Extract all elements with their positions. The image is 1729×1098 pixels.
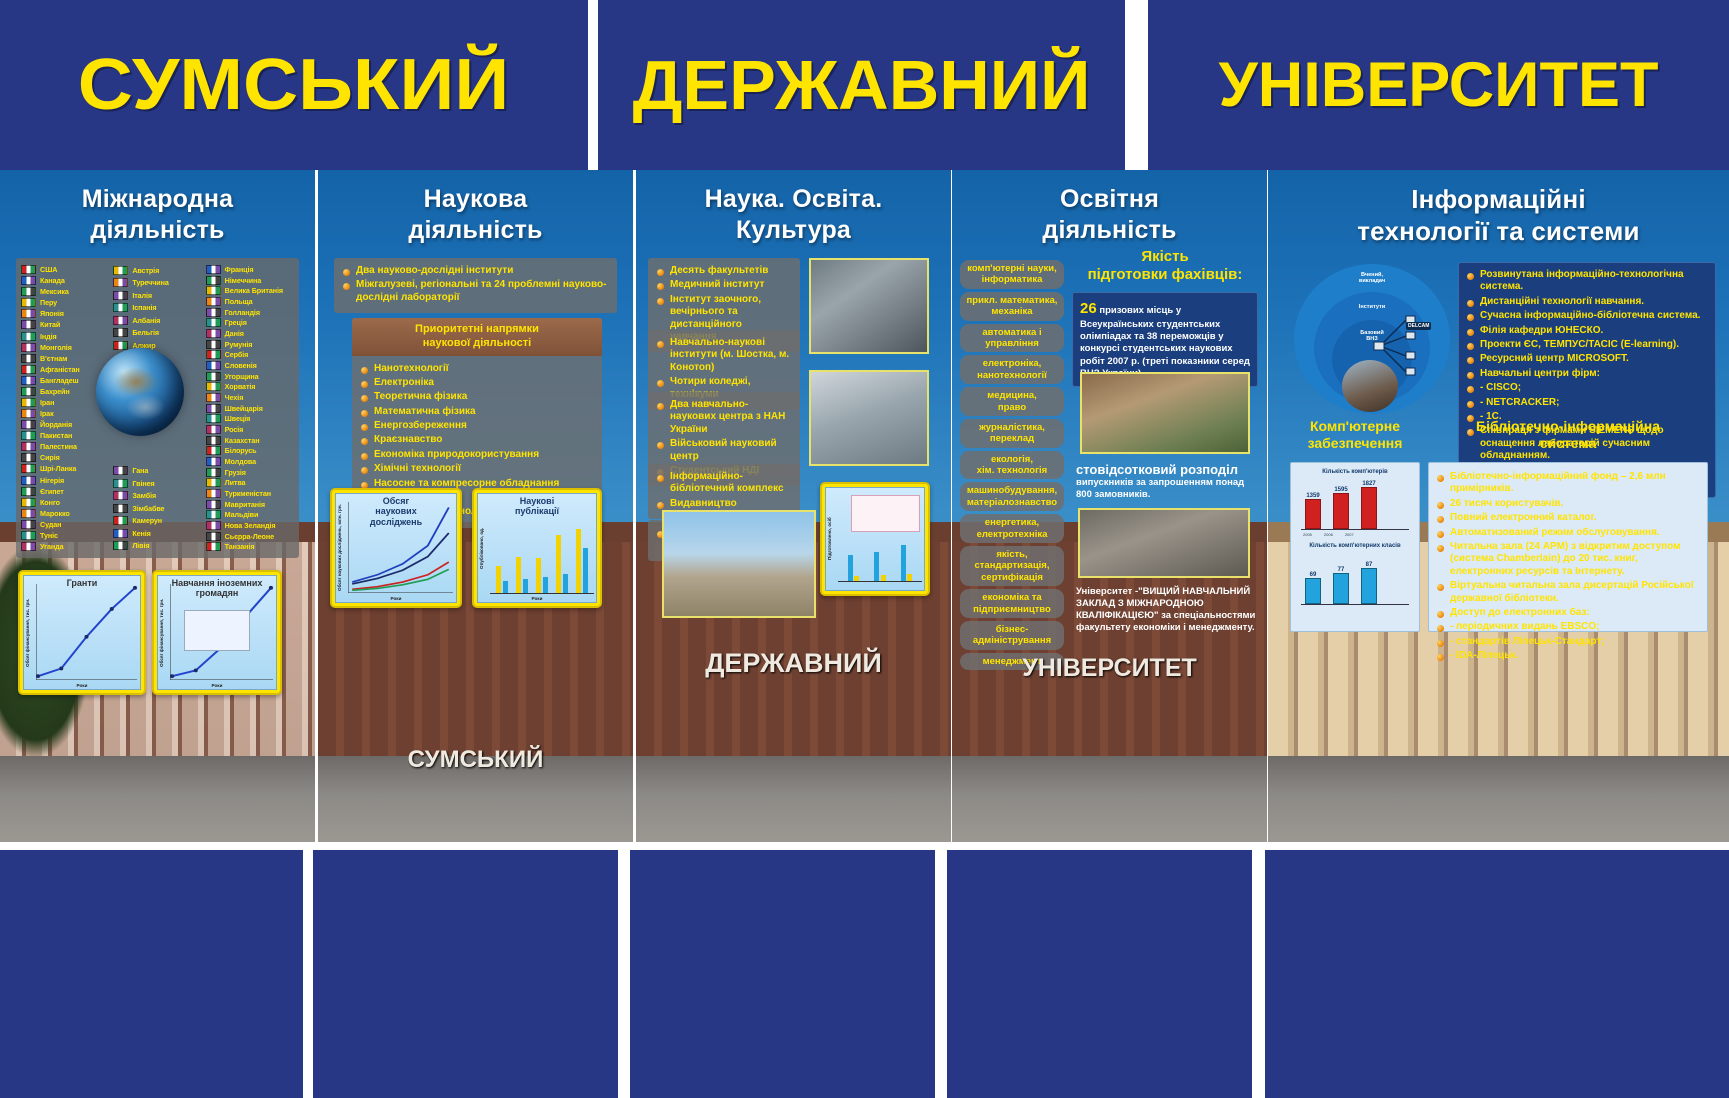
flag-row: Зімбабве	[113, 502, 201, 514]
flag-icon	[113, 278, 128, 287]
flag-row: Іспанія	[113, 301, 201, 313]
flag-icon	[206, 350, 221, 359]
flag-country-name: Сирія	[40, 453, 60, 462]
flag-row: Молдова	[206, 456, 294, 467]
flag-country-name: Японія	[40, 309, 64, 318]
flag-country-name: Туркменістан	[225, 489, 271, 498]
flag-country-name: Німеччина	[225, 276, 262, 285]
flag-row: Палестина	[21, 441, 109, 452]
specialties-list: комп'ютерні науки, інформатикаприкл. мат…	[960, 260, 1064, 673]
header-panel-2: ДЕРЖАВНИЙ	[598, 0, 1125, 170]
flag-icon	[21, 298, 36, 307]
priority-item: Краєзнавство	[361, 434, 593, 446]
flag-icon	[206, 542, 221, 551]
building-sign-panel3: ДЕРЖАВНИЙ	[636, 648, 951, 679]
flag-icon	[21, 354, 36, 363]
flag-row: Гана	[113, 465, 201, 477]
flag-country-name: Сьєрра-Леоне	[225, 532, 274, 541]
flag-icon	[21, 442, 36, 451]
flag-country-name: Угорщина	[225, 372, 259, 381]
flag-row: Бельгія	[113, 326, 201, 338]
flag-row: Чехія	[206, 392, 294, 403]
sec-bullet: Два навчально-наукових центра з НАН Укра…	[657, 399, 791, 436]
flag-row: Литва	[206, 477, 294, 488]
panel-title-it: Інформаційні технології та системи	[1268, 184, 1729, 247]
flag-row: Туреччина	[113, 276, 201, 288]
flag-row: Росія	[206, 424, 294, 435]
flag-row: Китай	[21, 319, 109, 330]
flag-row: Сьєрра-Леоне	[206, 531, 294, 542]
chart-classes-plot: 69 77 87	[1295, 554, 1415, 612]
flag-icon	[206, 318, 221, 327]
flag-country-name: Судан	[40, 520, 61, 529]
flag-row: Монголія	[21, 342, 109, 353]
panel-science-education-culture: Наука. Освіта. Культура Десять факультет…	[636, 170, 951, 842]
flag-icon	[206, 532, 221, 541]
flag-icon	[206, 436, 221, 445]
library-bullet: Автоматизований режим обслуговування.	[1437, 527, 1699, 539]
flag-country-name: Замбія	[132, 491, 156, 500]
library-bullet: Повний електронний каталог.	[1437, 512, 1699, 524]
flag-country-name: Румунія	[225, 340, 253, 349]
flag-icon	[21, 487, 36, 496]
bar-label-computers-1: 1595	[1333, 487, 1349, 493]
flag-icon	[206, 265, 221, 274]
chart-grants: Гранти Обсяг фінансування, тис. грн. Рок…	[18, 570, 146, 695]
panel-title-international: Міжнародна діяльність	[0, 184, 315, 245]
poster-stage: СУМСЬКИЙ ДЕРЖАВНИЙ УНІВЕРСИТЕТ Міжнародн…	[0, 0, 1729, 1098]
flag-row: Японія	[21, 308, 109, 319]
specialty-pill: якість, стандартизація, сертифікація	[960, 546, 1064, 586]
header-panel-1: СУМСЬКИЙ	[0, 0, 588, 170]
flag-icon	[21, 431, 36, 440]
specialty-pill: журналістика, переклад	[960, 419, 1064, 448]
photo-classroom	[1078, 508, 1250, 578]
flag-row: Грузія	[206, 467, 294, 478]
flag-row: Німеччина	[206, 275, 294, 286]
priority-item: Математична фізика	[361, 406, 593, 418]
flag-country-name: Індія	[40, 332, 57, 341]
chart-staff-training: Підготовлено, осіб	[820, 482, 930, 596]
photo-scientists	[809, 370, 929, 466]
specialty-pill: медицина, право	[960, 387, 1064, 416]
flag-row: Казахстан	[206, 435, 294, 446]
flag-icon	[206, 500, 221, 509]
flag-row: Туніс	[21, 530, 109, 541]
flag-row: Румунія	[206, 339, 294, 350]
flag-icon	[206, 382, 221, 391]
flag-row: Швейцарія	[206, 403, 294, 414]
flag-row: Велика Британія	[206, 285, 294, 296]
flag-country-name: Нова Зеландія	[225, 521, 276, 530]
header-word-2: ДЕРЖАВНИЙ	[633, 45, 1091, 125]
flag-country-name: Іспанія	[132, 303, 156, 312]
flag-icon	[206, 478, 221, 487]
flag-row: Гвінея	[113, 477, 201, 489]
bottom-block-1	[0, 850, 303, 1098]
flag-icon	[113, 504, 128, 513]
flag-icon	[21, 476, 36, 485]
panel-scientific: Наукова діяльність Два науково-дослідні …	[318, 170, 633, 842]
flag-icon	[21, 531, 36, 540]
flag-country-name: Казахстан	[225, 436, 260, 445]
bar-label-computers-0: 1359	[1305, 493, 1321, 499]
flag-icon	[113, 529, 128, 538]
flag-country-name: Ірак	[40, 409, 54, 418]
building-thumb	[1342, 360, 1398, 412]
priority-item: Нанотехнології	[361, 363, 593, 375]
flag-row: Афганістан	[21, 364, 109, 375]
chart-publications-ylabel: Опубліковано, од.	[476, 494, 487, 602]
flag-row: В'єтнам	[21, 353, 109, 364]
flag-row: Конго	[21, 497, 109, 508]
chart-publications: Наукові публікації Опубліковано, од. Рок…	[472, 488, 602, 608]
flag-country-name: Мавританія	[225, 500, 265, 509]
library-bullet: Віртуальна читальна зала дисертацій Росі…	[1437, 580, 1699, 605]
it-bullet: Дистанційні технології навчання.	[1467, 296, 1707, 308]
flag-country-name: Голландія	[225, 308, 260, 317]
flag-row: Мальдіви	[206, 509, 294, 520]
flag-row: Перу	[21, 297, 109, 308]
distribution-lead: стовідсотковий розподіл	[1076, 462, 1262, 477]
distribution-block: стовідсотковий розподіл випускників за з…	[1076, 462, 1262, 502]
flag-country-name: Єгипет	[40, 487, 64, 496]
sec-bullet: Медичний інститут	[657, 279, 791, 291]
tick-computers-0: 2005	[1303, 532, 1312, 537]
panel-title-educational: Освітня діяльність	[952, 184, 1267, 245]
chart-staff-bars	[840, 540, 920, 581]
chart-publications-xlabel: Роки	[478, 596, 596, 601]
ring-label-middle: Інститути	[1314, 304, 1430, 310]
flag-icon	[206, 276, 221, 285]
flag-icon	[113, 479, 128, 488]
sec-bullet: Інформаційно-бібліотечний комплекс	[657, 471, 791, 496]
chart-foreign-xlabel: Роки	[158, 683, 276, 688]
flag-row: Швеція	[206, 413, 294, 424]
delcam-label: DELCAM	[1406, 322, 1431, 330]
flag-icon	[206, 404, 221, 413]
building-sign-panel2: СУМСЬКИЙ	[318, 746, 633, 774]
flag-row: Камерун	[113, 515, 201, 527]
building-sign-panel4: УНІВЕРСИТЕТ	[952, 654, 1267, 683]
library-bullet: Доступ до електронних баз:	[1437, 607, 1699, 619]
chart-research-xlabel: Роки	[336, 596, 456, 601]
priority-item: Хімічні технології	[361, 463, 593, 475]
flag-row: Білорусь	[206, 445, 294, 456]
flag-country-name: Сербія	[225, 350, 249, 359]
flag-country-name: Китай	[40, 320, 60, 329]
chart-computers-card: Кількість комп'ютерів 1359 1595 1827	[1290, 462, 1420, 632]
flag-row: Уганда	[21, 541, 109, 552]
tick-computers-1: 2006	[1324, 532, 1333, 537]
panel-international: Міжнародна діяльність СШАКанадаМексикаПе…	[0, 170, 315, 842]
flag-icon	[21, 542, 36, 551]
flag-country-name: Йорданія	[40, 420, 72, 429]
flag-icon	[21, 343, 36, 352]
flag-country-name: Велика Британія	[225, 286, 283, 295]
flag-icon	[206, 414, 221, 423]
bottom-block-5	[1265, 850, 1729, 1098]
flag-row: Танзанія	[206, 541, 294, 552]
flag-row: Туркменістан	[206, 488, 294, 499]
flag-row: Австрія	[113, 264, 201, 276]
flag-icon	[21, 276, 36, 285]
flag-row: Греція	[206, 317, 294, 328]
priority-item: Теоретична фізика	[361, 391, 593, 403]
flag-row: Сирія	[21, 452, 109, 463]
flag-icon	[113, 316, 128, 325]
chart-grants-svg	[36, 584, 137, 680]
flag-icon	[206, 510, 221, 519]
flag-icon	[206, 446, 221, 455]
flag-row: Албанія	[113, 314, 201, 326]
flag-row: Італія	[113, 289, 201, 301]
flag-row: США	[21, 264, 109, 275]
quality-stat-number: 26	[1080, 300, 1097, 317]
flag-icon	[206, 468, 221, 477]
flag-row: Канада	[21, 275, 109, 286]
priority-item: Економіка природокористування	[361, 449, 593, 461]
flag-row: Голландія	[206, 307, 294, 318]
flag-icon	[21, 464, 36, 473]
flag-country-name: Нігерія	[40, 476, 64, 485]
flag-country-name: Грузія	[225, 468, 246, 477]
library-section-title: Бібліотечно-інформаційна система	[1428, 418, 1708, 452]
flag-icon	[206, 425, 221, 434]
photo-library	[1080, 372, 1250, 454]
chart-grants-ylabel: Обсяг фінансування, тис. грн.	[22, 576, 33, 689]
it-bullet: Навчальні центри фірм:	[1467, 368, 1707, 380]
flag-row: Замбія	[113, 490, 201, 502]
quality-stat-text: призових місць у Всеукраїнських студентс…	[1080, 305, 1250, 379]
it-bullet: Сучасна інформаційно-бібліотечна система…	[1467, 310, 1707, 322]
flag-icon	[21, 365, 36, 374]
flag-country-name: Австрія	[132, 266, 159, 275]
flag-icon	[21, 265, 36, 274]
bottom-block-2	[313, 850, 618, 1098]
flag-row: Шрі-Ланка	[21, 463, 109, 474]
flag-icon	[113, 516, 128, 525]
flag-country-name: Афганістан	[40, 365, 80, 374]
flag-row: Нова Зеландія	[206, 520, 294, 531]
library-bullet: - стандартів Ліпецьк-Стандарт;	[1437, 636, 1699, 648]
flag-row: Кенія	[113, 527, 201, 539]
bottom-band	[0, 850, 1729, 1098]
panel-title-sec: Наука. Освіта. Культура	[636, 184, 951, 245]
flag-country-name: Кенія	[132, 529, 150, 538]
flag-row: Мексика	[21, 286, 109, 297]
flag-row: Мавританія	[206, 499, 294, 510]
flag-row: Йорданія	[21, 419, 109, 430]
flag-icon	[113, 341, 128, 350]
flag-icon	[21, 498, 36, 507]
flag-icon	[206, 372, 221, 381]
flag-country-name: Словенія	[225, 361, 257, 370]
network-diagram: Вчений, викладач Інститути Базовий ВНЗ D…	[1294, 264, 1450, 414]
flag-country-name: Бахрейн	[40, 387, 70, 396]
computer-section-title: Комп'ютерне забезпечення	[1290, 418, 1420, 452]
flag-icon	[206, 489, 221, 498]
sec-bullet: Десять факультетів	[657, 265, 791, 277]
specialty-pill: автоматика і управління	[960, 324, 1064, 353]
flag-row: Польща	[206, 296, 294, 307]
flag-icon	[21, 387, 36, 396]
flag-icon	[113, 266, 128, 275]
scientific-bullet: Два науково-дослідні інститути	[343, 265, 608, 277]
flag-icon	[21, 520, 36, 529]
flag-country-name: США	[40, 265, 57, 274]
it-bullet: Проекти ЄС, ТЕМПУС/ТАСІС (E-learning).	[1467, 339, 1707, 351]
flag-icon	[21, 453, 36, 462]
flag-country-name: Шрі-Ланка	[40, 464, 76, 473]
flag-country-name: Італія	[132, 291, 152, 300]
flag-country-name: Перу	[40, 298, 57, 307]
flag-row: Пакистан	[21, 430, 109, 441]
header-band: СУМСЬКИЙ ДЕРЖАВНИЙ УНІВЕРСИТЕТ	[0, 0, 1729, 170]
scientific-top-bullets: Два науково-дослідні інститутиМіжгалузев…	[334, 258, 617, 313]
flag-icon	[113, 328, 128, 337]
flag-icon	[21, 320, 36, 329]
chart-research-svg	[348, 502, 453, 593]
flag-country-name: Марокко	[40, 509, 70, 518]
library-bullets-card: Бібліотечно-інформаційний фонд – 2,6 млн…	[1428, 462, 1708, 632]
flag-icon	[206, 521, 221, 530]
flag-icon	[113, 466, 128, 475]
specialty-pill: енергетика, електротехніка	[960, 514, 1064, 543]
chart-research-ylabel: Обсяг наукових досліджень, млн. грн.	[334, 494, 345, 602]
flag-country-name: Молдова	[225, 457, 256, 466]
library-bullet: Читальна зала (24 АРМ) з відкритим досту…	[1437, 541, 1699, 578]
flag-country-name: Швейцарія	[225, 404, 263, 413]
flag-country-name: В'єтнам	[40, 354, 67, 363]
flag-icon	[21, 287, 36, 296]
flag-country-name: Данія	[225, 329, 244, 338]
flag-country-name: Туреччина	[132, 278, 168, 287]
specialty-pill: прикл. математика, механіка	[960, 292, 1064, 321]
flag-icon	[21, 509, 36, 518]
chart-grants-xlabel: Роки	[24, 683, 140, 688]
flag-icon	[206, 361, 221, 370]
panel-it-systems: Інформаційні технології та системи Вчени…	[1268, 170, 1729, 842]
flag-icon	[21, 309, 36, 318]
it-bullet: - CISCO;	[1467, 382, 1707, 394]
photo-laboratory	[809, 258, 929, 354]
it-bullet: Ресурсний центр MICROSOFT.	[1467, 353, 1707, 365]
flag-country-name: Білорусь	[225, 446, 257, 455]
educational-footer-text: Університет -"ВИЩИЙ НАВЧАЛЬНИЙ ЗАКЛАД З …	[1076, 586, 1262, 635]
chart-research-volume: Обсяг наукових досліджень Обсяг наукових…	[330, 488, 462, 608]
globe-icon	[96, 348, 184, 436]
bar-label-computers-2: 1827	[1361, 481, 1377, 487]
chart-foreign-students: Навчання іноземних громадян Обсяг фінанс…	[152, 570, 282, 695]
flag-country-name: Польща	[225, 297, 253, 306]
flag-row: Данія	[206, 328, 294, 339]
flag-icon	[21, 376, 36, 385]
flag-country-name: Іран	[40, 398, 54, 407]
specialty-pill: електроніка, нанотехнології	[960, 355, 1064, 384]
flag-country-name: Танзанія	[225, 542, 255, 551]
flag-country-name: Хорватія	[225, 382, 256, 391]
panel-educational: Освітня діяльність комп'ютерні науки, ін…	[952, 170, 1267, 842]
bottom-block-4	[947, 850, 1252, 1098]
flag-icon	[113, 291, 128, 300]
flag-icon	[113, 541, 128, 550]
tick-computers-2: 2007	[1345, 532, 1354, 537]
flag-icon	[21, 409, 36, 418]
flag-row: Франція	[206, 264, 294, 275]
flag-icon	[206, 286, 221, 295]
flag-icon	[206, 393, 221, 402]
bottom-block-3	[630, 850, 935, 1098]
quality-heading: Якість підготовки фахівців:	[1070, 248, 1260, 285]
flag-icon	[206, 297, 221, 306]
flag-row: Нігерія	[21, 474, 109, 485]
flag-row: Індія	[21, 330, 109, 341]
flag-icon	[21, 332, 36, 341]
flag-row: Лівія	[113, 540, 201, 552]
flag-icon	[21, 398, 36, 407]
flag-country-name: Туніс	[40, 531, 58, 540]
flag-country-name: Конго	[40, 498, 60, 507]
flag-column-3: ФранціяНімеччинаВелика БританіяПольщаГол…	[206, 264, 294, 552]
ring-label-outer: Вчений, викладач	[1294, 272, 1450, 284]
flag-country-name: Камерун	[132, 516, 162, 525]
flag-icon	[21, 420, 36, 429]
library-bullet: Бібліотечно-інформаційний фонд – 2,6 млн…	[1437, 471, 1699, 496]
header-word-3: УНІВЕРСИТЕТ	[1219, 49, 1659, 121]
flag-country-name: Пакистан	[40, 431, 72, 440]
sec-bullet: Навчально-наукові інститути (м. Шостка, …	[657, 337, 791, 374]
library-bullet: - IDA-Ліпецьк.	[1437, 650, 1699, 662]
flag-country-name: Росія	[225, 425, 244, 434]
flag-icon	[206, 329, 221, 338]
chart-staff-ylabel: Підготовлено, осіб	[824, 488, 835, 590]
flag-icon	[206, 340, 221, 349]
specialty-pill: машинобудування, матеріалознавство	[960, 482, 1064, 511]
flag-row: Хорватія	[206, 381, 294, 392]
flag-country-name: Уганда	[40, 542, 64, 551]
specialty-pill: екологія, хім. технологія	[960, 451, 1064, 480]
flag-country-name: Албанія	[132, 316, 160, 325]
flag-country-name: Мексика	[40, 287, 69, 296]
flag-row: Марокко	[21, 508, 109, 519]
chart-classes-title: Кількість комп'ютерних класів	[1295, 543, 1415, 550]
sec-bullet: Військовий науковий центр	[657, 438, 791, 463]
library-bullet: 26 тисяч користувачів.	[1437, 498, 1699, 510]
flag-column-1: СШАКанадаМексикаПеруЯпоніяКитайІндіяМонг…	[21, 264, 109, 552]
flag-country-name: Бельгія	[132, 328, 159, 337]
flag-country-name: Литва	[225, 478, 246, 487]
chart-publications-bars	[492, 528, 592, 593]
panels-row: Міжнародна діяльність СШАКанадаМексикаПе…	[0, 170, 1729, 842]
panel-title-scientific: Наукова діяльність	[318, 184, 633, 245]
flag-country-name: Гвінея	[132, 479, 154, 488]
flag-country-name: Франція	[225, 265, 254, 274]
flag-icon	[206, 457, 221, 466]
flag-country-name: Греція	[225, 318, 247, 327]
flag-row: Ірак	[21, 408, 109, 419]
flag-country-name: Бангладеш	[40, 376, 79, 385]
specialty-pill: економіка та підприємництво	[960, 589, 1064, 618]
flag-row: Угорщина	[206, 371, 294, 382]
flag-country-name: Мальдіви	[225, 510, 259, 519]
chart-computers-title: Кількість комп'ютерів	[1295, 469, 1415, 475]
flag-country-name: Гана	[132, 466, 148, 475]
flag-country-name: Чехія	[225, 393, 244, 402]
flag-country-name: Канада	[40, 276, 65, 285]
sec-bullet: Видавництво	[657, 498, 791, 510]
flag-icon	[113, 491, 128, 500]
